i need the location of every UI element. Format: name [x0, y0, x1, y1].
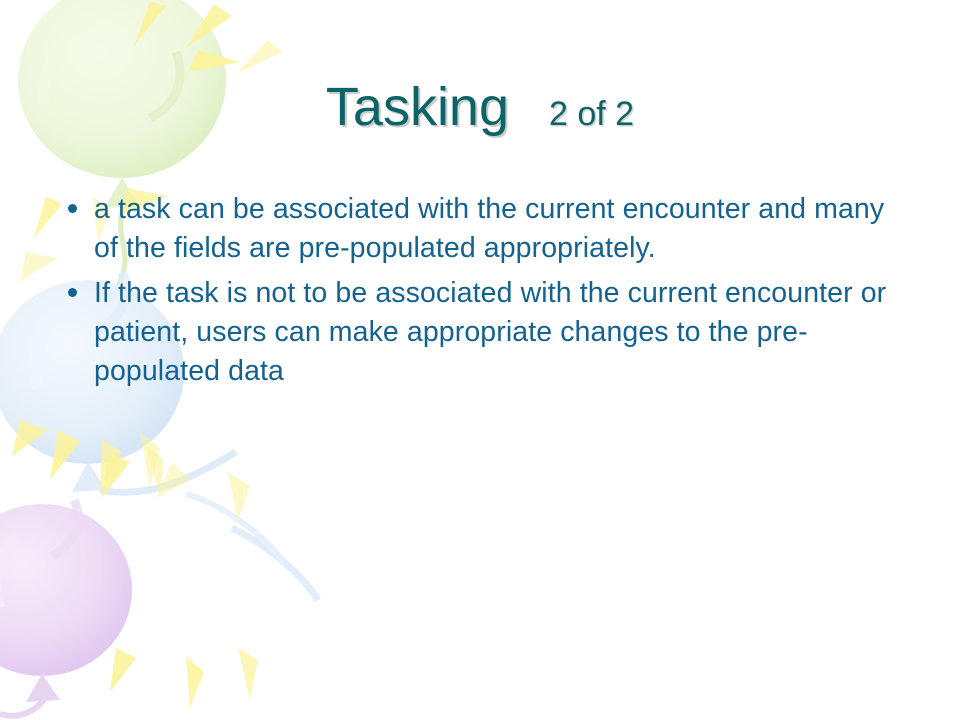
- bullet-list: a task can be associated with the curren…: [60, 190, 890, 397]
- list-item-text: If the task is not to be associated with…: [94, 277, 886, 387]
- bullet-dot-icon: [68, 204, 77, 213]
- page-title: Tasking: [326, 77, 509, 137]
- yellow-rays-middle: [12, 420, 190, 498]
- list-item-text: a task can be associated with the curren…: [94, 193, 884, 264]
- list-item: a task can be associated with the curren…: [60, 190, 890, 268]
- yellow-rays-bottom: [102, 446, 258, 708]
- slide-canvas: Tasking2 of 2 a task can be associated w…: [0, 0, 960, 720]
- slide-title: Tasking2 of 2: [0, 76, 960, 138]
- list-item: If the task is not to be associated with…: [60, 274, 890, 391]
- purple-balloon-icon: [0, 500, 132, 716]
- bullet-dot-icon: [68, 288, 77, 297]
- page-title-subtitle: 2 of 2: [549, 95, 634, 133]
